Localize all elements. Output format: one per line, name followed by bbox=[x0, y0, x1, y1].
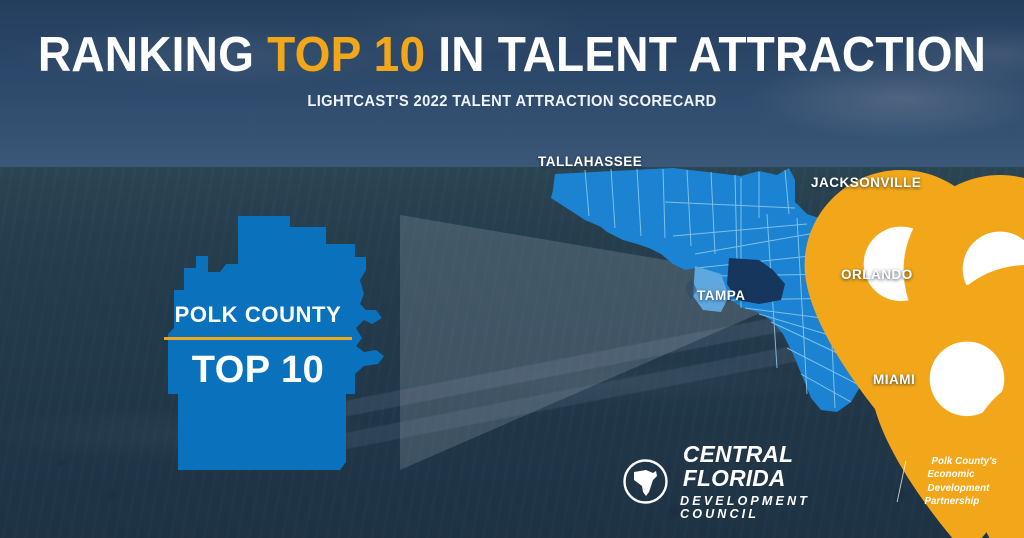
city-label: TALLAHASSEE bbox=[538, 154, 642, 169]
logo-wordmark: CENTRAL FLORIDA DEVELOPMENT COUNCIL bbox=[680, 443, 876, 520]
rank-value: TOP 10 bbox=[150, 351, 366, 389]
city-tampa[interactable]: TAMPA bbox=[697, 288, 746, 303]
city-label: TAMPA bbox=[697, 288, 746, 303]
headline-highlight: TOP 10 bbox=[267, 28, 425, 82]
tagline-line-3: Partnership bbox=[925, 495, 1024, 508]
logo-divider bbox=[896, 461, 906, 502]
city-orlando[interactable]: ORLANDO bbox=[841, 267, 913, 282]
florida-map: TALLAHASSEE JACKSONVILLE ORLANDO TAMPA bbox=[545, 158, 965, 428]
city-label: ORLANDO bbox=[841, 267, 913, 282]
city-miami[interactable]: MIAMI bbox=[873, 372, 915, 387]
county-name: POLK COUNTY bbox=[150, 302, 366, 328]
subtitle: LIGHTCAST'S 2022 TALENT ATTRACTION SCORE… bbox=[26, 93, 999, 111]
accent-divider bbox=[164, 337, 352, 340]
header-block: RANKING TOP 10 IN TALENT ATTRACTION LIGH… bbox=[0, 31, 1024, 111]
city-label: MIAMI bbox=[873, 372, 915, 387]
tagline-line-2: Economic Development bbox=[928, 468, 1024, 495]
tagline-line-1: Polk County's bbox=[932, 455, 1024, 468]
promo-graphic: RANKING TOP 10 IN TALENT ATTRACTION LIGH… bbox=[0, 0, 1024, 538]
headline-pre: RANKING bbox=[38, 28, 267, 82]
city-label: JACKSONVILLE bbox=[811, 175, 921, 190]
logo-lockup[interactable]: CENTRAL FLORIDA DEVELOPMENT COUNCIL Polk… bbox=[622, 443, 1024, 520]
logo-line-1: CENTRAL FLORIDA bbox=[683, 443, 873, 490]
page-title: RANKING TOP 10 IN TALENT ATTRACTION bbox=[31, 31, 994, 80]
logo-line-2: DEVELOPMENT COUNCIL bbox=[680, 495, 876, 520]
logo-tagline: Polk County's Economic Development Partn… bbox=[925, 455, 1024, 509]
florida-circle-icon bbox=[622, 458, 669, 505]
headline-post: IN TALENT ATTRACTION bbox=[425, 28, 986, 82]
callout-text: POLK COUNTY TOP 10 bbox=[150, 302, 366, 389]
city-jacksonville[interactable]: JACKSONVILLE bbox=[811, 175, 921, 190]
polk-county-callout: POLK COUNTY TOP 10 bbox=[150, 198, 400, 483]
city-tallahassee[interactable]: TALLAHASSEE bbox=[538, 154, 642, 169]
